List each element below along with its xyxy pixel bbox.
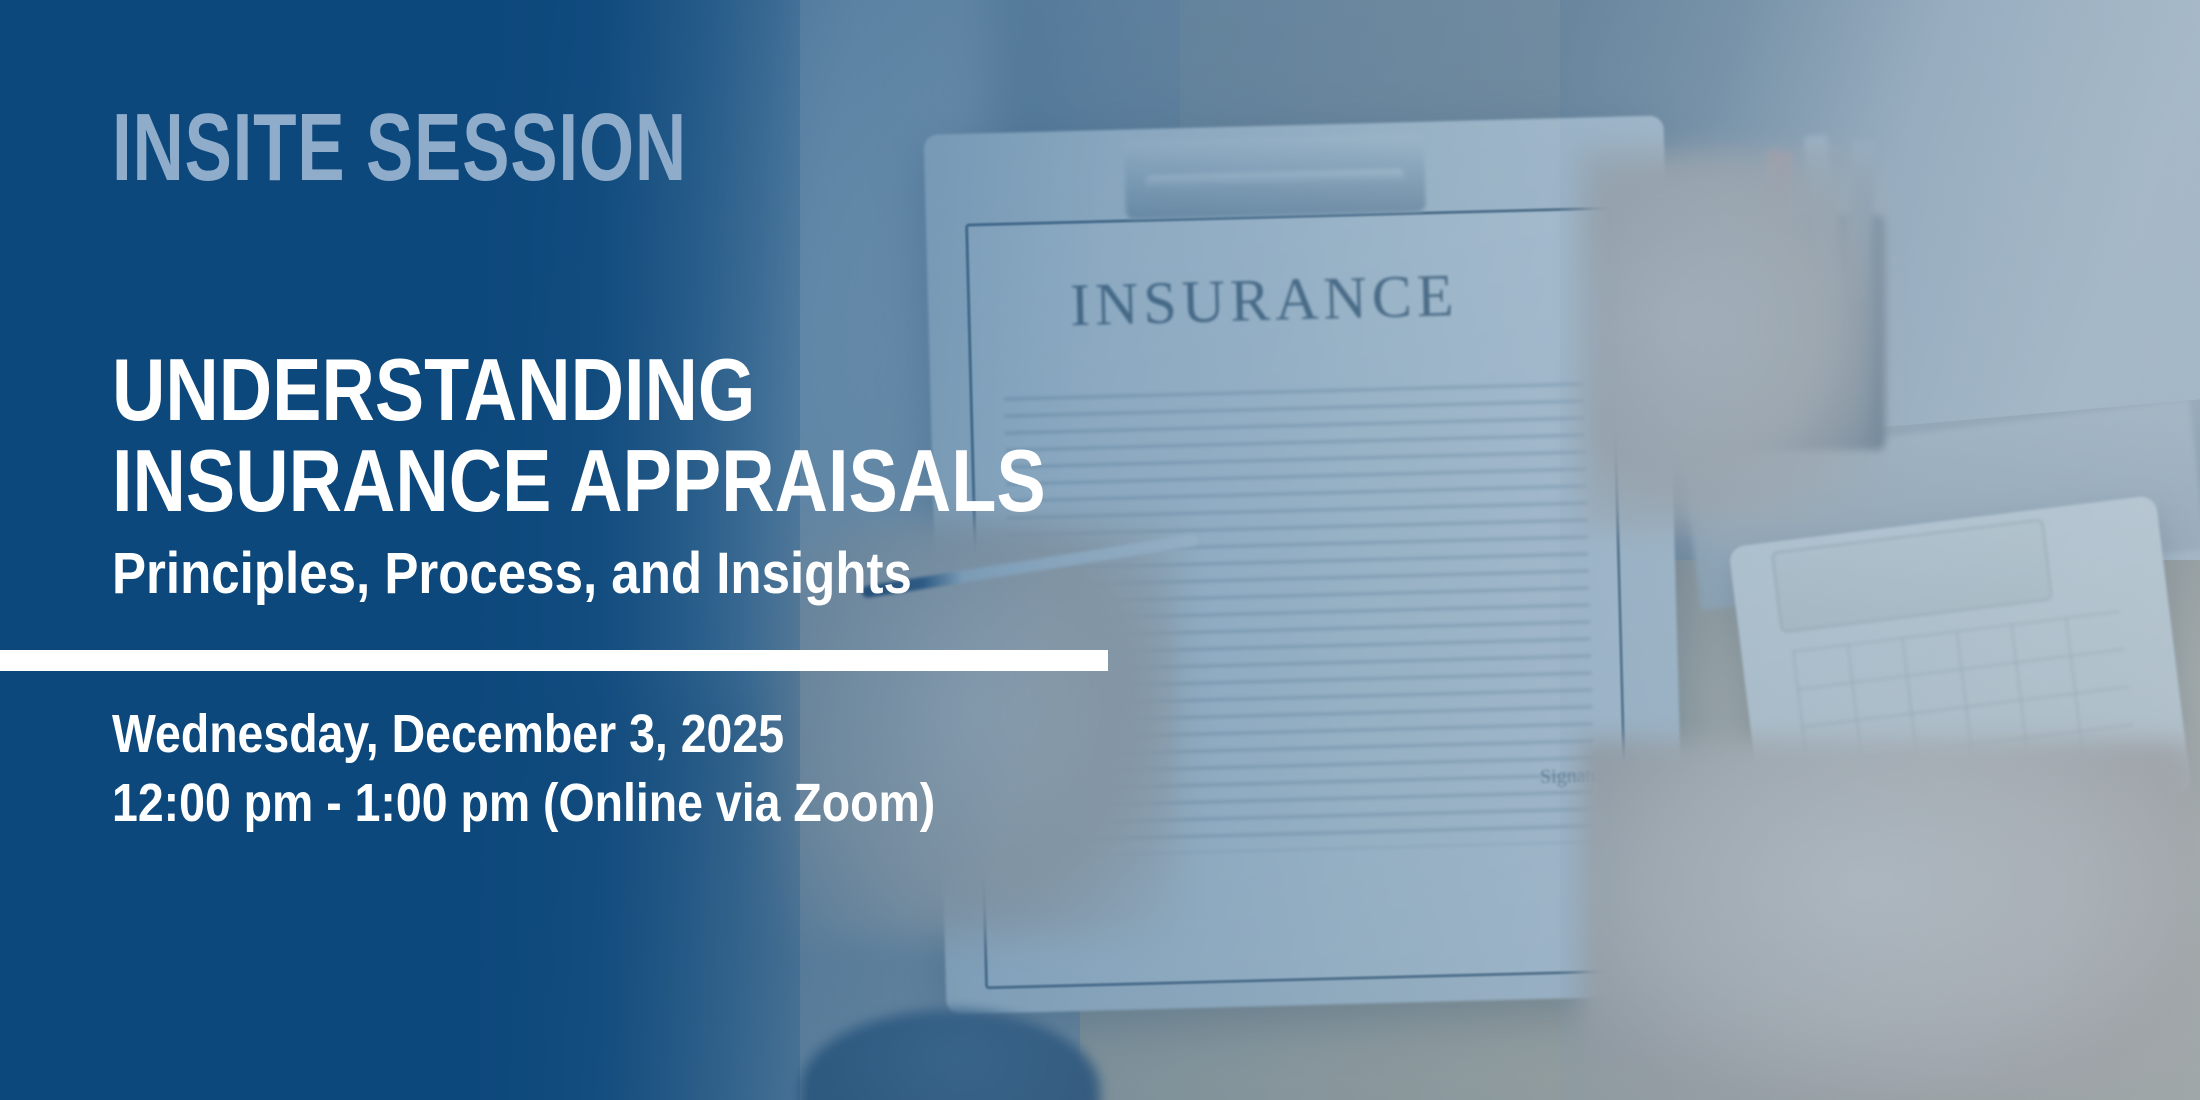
- page-title: UNDERSTANDING INSURANCE APPRAISALS: [112, 345, 1046, 526]
- headline-line-2: INSURANCE APPRAISALS: [112, 436, 1046, 527]
- event-time-location: 12:00 pm - 1:00 pm (Online via Zoom): [112, 769, 935, 838]
- headline-line-1: UNDERSTANDING: [112, 340, 755, 439]
- event-date: Wednesday, December 3, 2025: [112, 704, 784, 764]
- eyebrow-label: INSITE SESSION: [112, 100, 687, 196]
- divider-bar: [0, 650, 1108, 671]
- subtitle: Principles, Process, and Insights: [112, 545, 912, 603]
- insite-session-banner: INSURANCE Signature INSITE SESSION UNDER…: [0, 0, 2200, 1100]
- banner-content: INSITE SESSION UNDERSTANDING INSURANCE A…: [0, 0, 2200, 1100]
- event-details: Wednesday, December 3, 2025 12:00 pm - 1…: [112, 700, 935, 838]
